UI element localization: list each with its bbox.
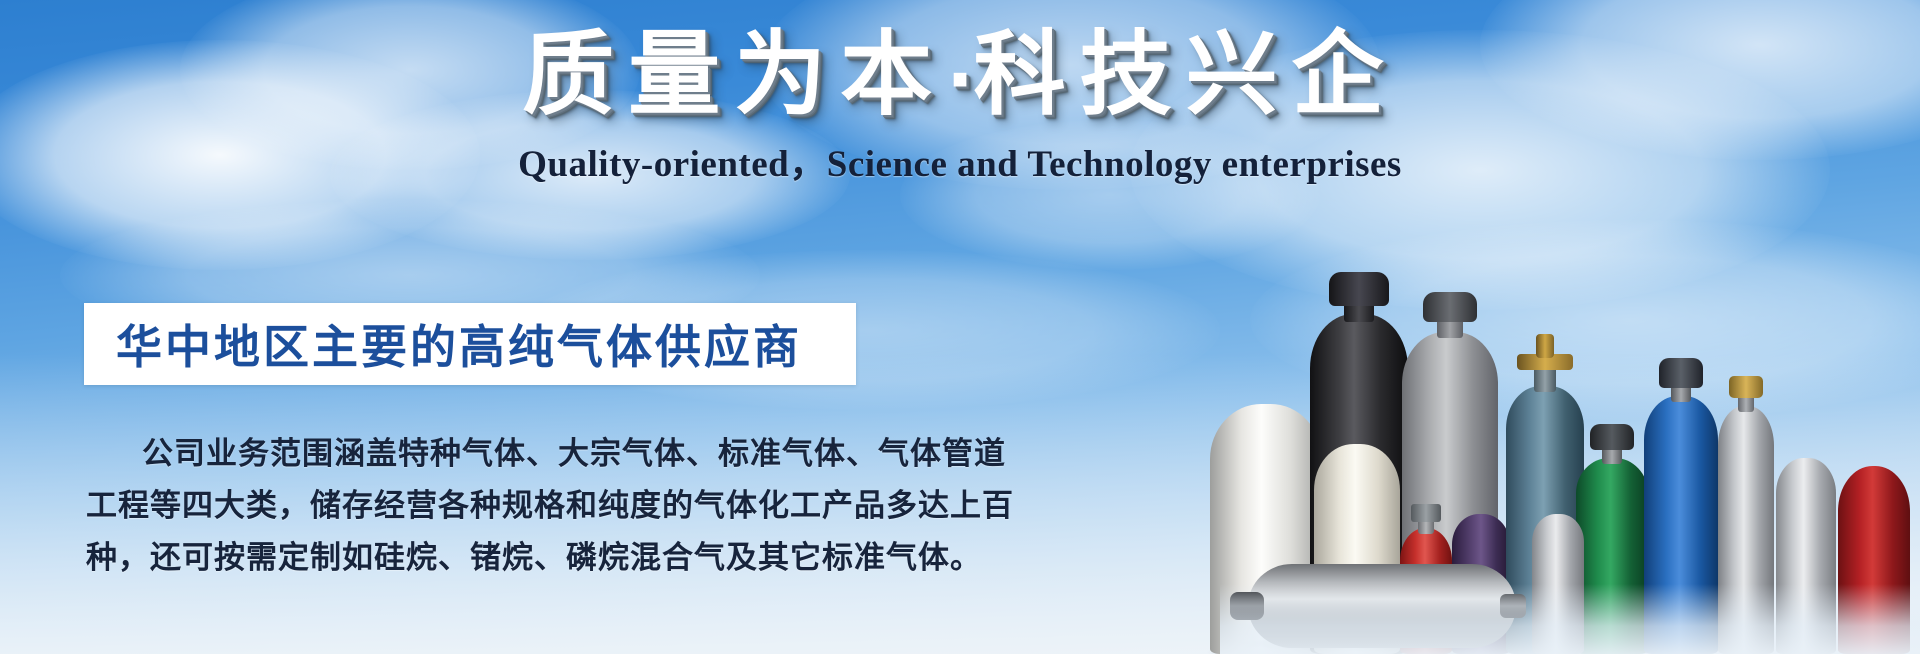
- cylinder-valve-cap: [1329, 272, 1389, 306]
- cylinder-valve: [1411, 504, 1441, 522]
- description-line: 工程等四大类，储存经营各种规格和纯度的气体化工产品多达上百: [86, 480, 876, 532]
- description-line: 公司业务范围涵盖特种气体、大宗气体、标准气体、气体管道: [86, 428, 876, 480]
- headline-part-one: 质量为本: [522, 21, 946, 128]
- gas-cylinder-photo: [1220, 94, 1920, 654]
- cylinder-valve-cap: [1423, 292, 1477, 322]
- floor-reflection: [1220, 584, 1920, 654]
- description-line: 种，还可按需定制如硅烷、锗烷、磷烷混合气及其它标准气体。: [86, 532, 876, 584]
- banner-description: 公司业务范围涵盖特种气体、大宗气体、标准气体、气体管道 工程等四大类，储存经营各…: [86, 428, 876, 584]
- slogan-box: 华中地区主要的高纯气体供应商: [84, 303, 856, 385]
- slogan-text: 华中地区主要的高纯气体供应商: [84, 311, 802, 377]
- headline-separator-dot: ·: [946, 38, 973, 122]
- promotional-banner: 质量为本·科技兴企 Quality-oriented，Science and T…: [0, 0, 1920, 654]
- cylinder-valve-cap: [1590, 424, 1634, 450]
- cylinder-valve-cap: [1659, 358, 1703, 388]
- cylinder-valve: [1729, 376, 1763, 398]
